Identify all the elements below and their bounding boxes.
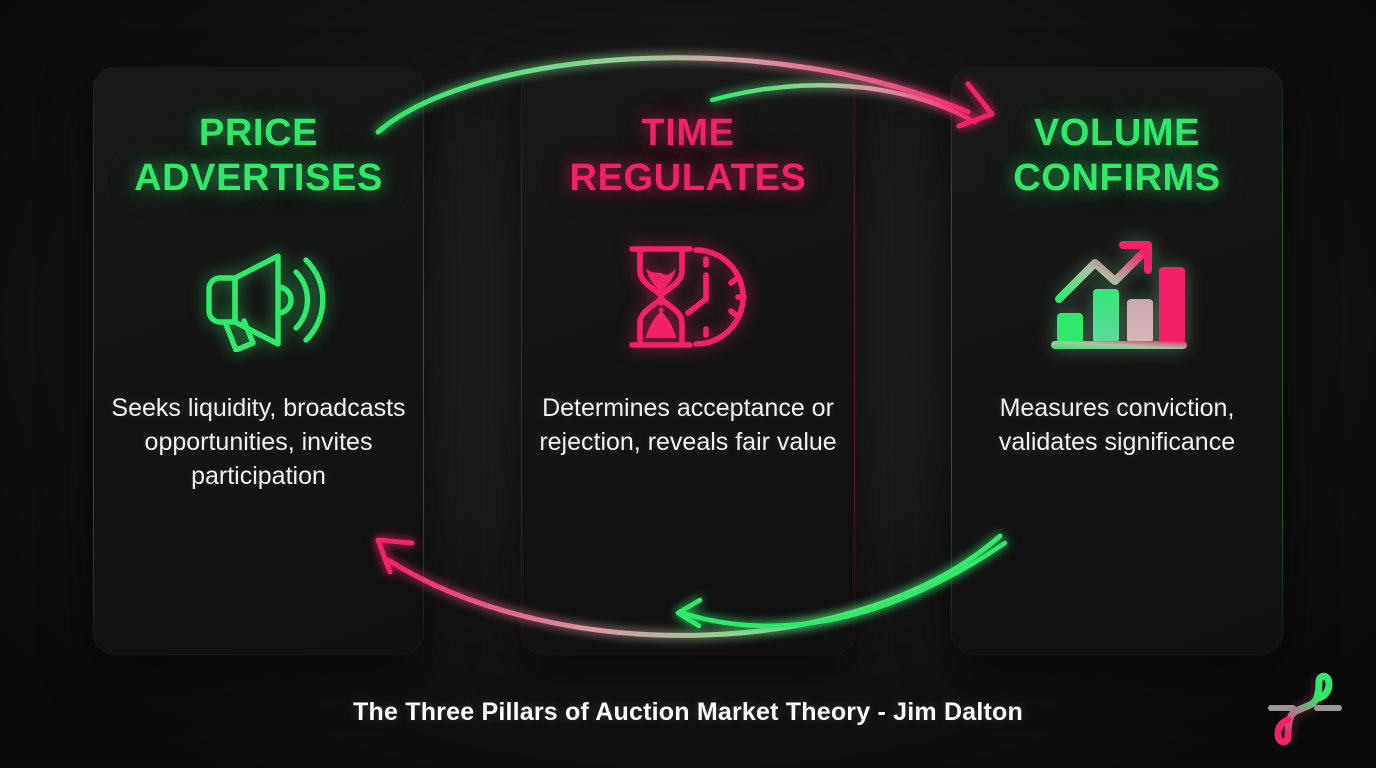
card-price: PRICE ADVERTISES Seeks liquidity, broadc… [93, 67, 424, 655]
card-volume-title-line2: CONFIRMS [1013, 156, 1220, 201]
infographic-canvas: PRICE ADVERTISES Seeks liquidity, broadc… [0, 0, 1376, 768]
card-price-body: Seeks liquidity, broadcasts opportunitie… [109, 391, 409, 494]
card-price-title-line2: ADVERTISES [134, 156, 383, 201]
hourglass-clock-icon [618, 239, 758, 355]
card-volume-body: Measures conviction, validates significa… [967, 391, 1267, 460]
card-time: TIME REGULATES [521, 67, 855, 655]
card-price-title: PRICE ADVERTISES [134, 111, 383, 201]
card-time-title-line1: TIME [570, 111, 807, 156]
bar-chart-trending-up-icon [1047, 239, 1187, 355]
megaphone-icon [192, 239, 326, 355]
card-volume-title-line1: VOLUME [1013, 111, 1220, 156]
card-time-title-line2: REGULATES [570, 156, 807, 201]
card-time-body: Determines acceptance or rejection, reve… [538, 391, 838, 460]
card-volume-title: VOLUME CONFIRMS [1013, 111, 1220, 201]
footer-caption: The Three Pillars of Auction Market Theo… [0, 698, 1376, 727]
card-price-title-line1: PRICE [134, 111, 383, 156]
wave-logo [1262, 670, 1348, 746]
card-volume: VOLUME CONFIRMS [951, 67, 1283, 655]
card-time-title: TIME REGULATES [570, 111, 807, 201]
